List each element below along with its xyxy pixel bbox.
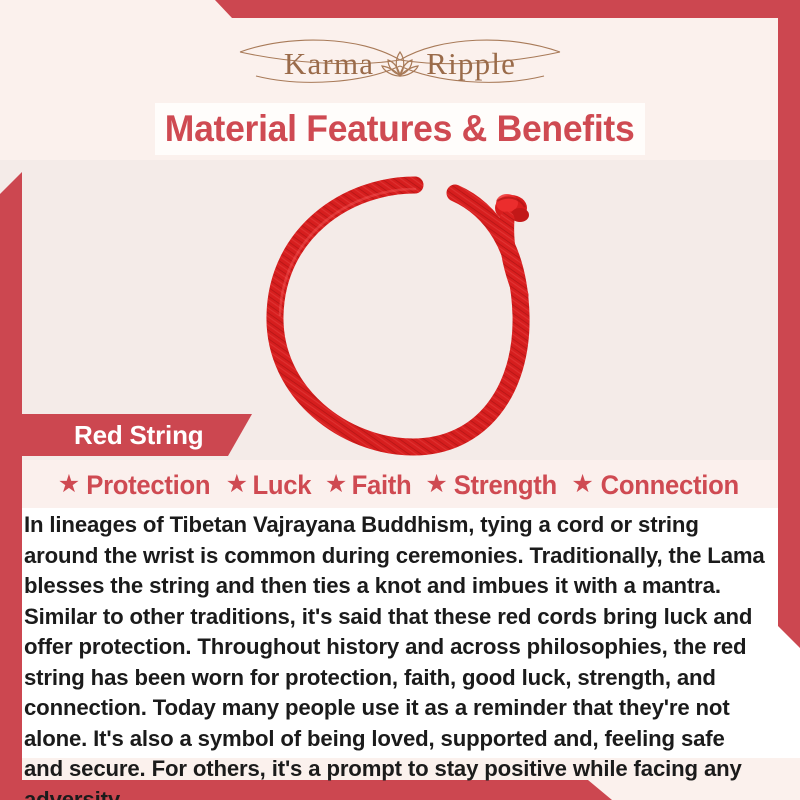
- description-paragraph: In lineages of Tibetan Vajrayana Buddhis…: [24, 510, 765, 800]
- benefit-item-protection: ★ Protection: [58, 470, 214, 501]
- lotus-icon: [380, 46, 420, 80]
- brand-word-right: Ripple: [426, 48, 516, 79]
- section-label-banner: Red String: [22, 414, 252, 456]
- benefit-item-strength: ★ Strength: [425, 470, 559, 501]
- frame-accent-left: [0, 172, 22, 800]
- star-icon: ★: [325, 472, 347, 497]
- star-icon: ★: [571, 472, 593, 497]
- benefit-item-connection: ★ Connection: [571, 470, 742, 501]
- benefit-label: Strength: [453, 470, 556, 501]
- red-string-bracelet-icon: [255, 175, 575, 460]
- brand-word-left: Karma: [284, 48, 374, 79]
- frame-accent-right: [778, 0, 800, 648]
- brand-logo: Karma Ripple: [0, 32, 800, 94]
- description-block: In lineages of Tibetan Vajrayana Buddhis…: [24, 510, 776, 758]
- product-image: [255, 175, 575, 460]
- page-title-band: Material Features & Benefits: [155, 103, 645, 155]
- benefit-label: Luck: [253, 470, 312, 501]
- benefit-label: Connection: [600, 470, 738, 501]
- infographic-page: Karma Ripple Material Features & Benefit…: [0, 0, 800, 800]
- benefits-list: ★ Protection ★ Luck ★ Faith ★ Strength ★…: [22, 466, 778, 504]
- section-label: Red String: [74, 420, 203, 451]
- page-title: Material Features & Benefits: [165, 108, 635, 150]
- benefit-item-luck: ★ Luck: [226, 470, 313, 501]
- star-icon: ★: [425, 472, 447, 497]
- benefit-label: Protection: [86, 470, 210, 501]
- star-icon: ★: [58, 472, 80, 497]
- benefit-item-faith: ★ Faith: [325, 470, 413, 501]
- benefit-label: Faith: [352, 470, 412, 501]
- star-icon: ★: [226, 472, 248, 497]
